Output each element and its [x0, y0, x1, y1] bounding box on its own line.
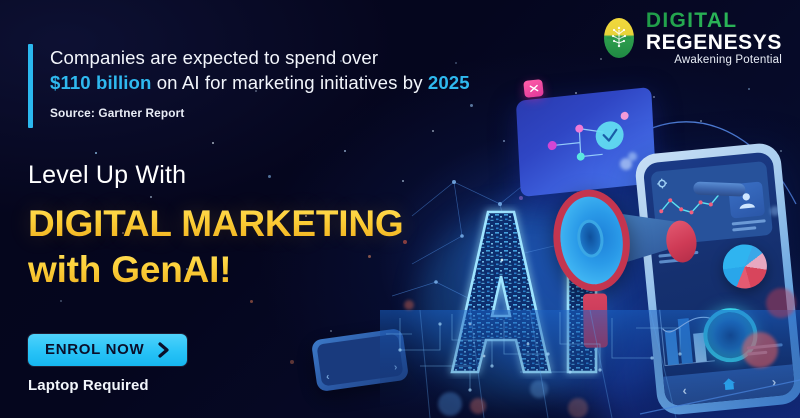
- quote-line-1: Companies are expected to spend over: [50, 45, 470, 70]
- brand-logo: DIGITAL REGENESYS Awakening Potential: [599, 10, 782, 67]
- bokeh-blue-1: [438, 392, 462, 416]
- headline-title-line2: with GenAI!: [28, 249, 404, 292]
- logo-tagline: Awakening Potential: [646, 55, 782, 67]
- bokeh-white-2: [628, 152, 637, 161]
- card-text-lines: [732, 219, 767, 234]
- settings-badge-icon: [523, 79, 544, 98]
- logo-line-regenesys: REGENESYS: [646, 32, 782, 53]
- bokeh-blue-3: [770, 206, 780, 216]
- headline-block: Level Up With DIGITAL MARKETING with Gen…: [28, 162, 404, 292]
- quote-amount: $110 billion: [50, 72, 151, 93]
- bokeh-coral-2: [470, 398, 486, 414]
- bokeh-blue-2: [530, 380, 548, 398]
- headline-title-line1: DIGITAL MARKETING: [28, 203, 404, 246]
- bokeh-coral-3: [568, 398, 588, 418]
- promo-banner: Companies are expected to spend over $11…: [0, 0, 800, 418]
- headline-eyebrow: Level Up With: [28, 162, 404, 190]
- magnifier-handle: [693, 181, 746, 196]
- tree-emblem-icon: [599, 15, 639, 61]
- logo-line-digital: DIGITAL: [646, 10, 782, 31]
- bokeh-coral-large: [742, 332, 778, 368]
- bokeh-red-4: [404, 300, 414, 310]
- bokeh-red-topright: [766, 288, 796, 318]
- circuit-board-floor: [0, 310, 800, 418]
- megaphone-icon: [547, 170, 694, 313]
- cyan-accent-bar: [28, 44, 33, 128]
- pie-chart-icon: [721, 242, 769, 290]
- quote-line-2-middle: on AI for marketing initiatives by: [151, 72, 427, 93]
